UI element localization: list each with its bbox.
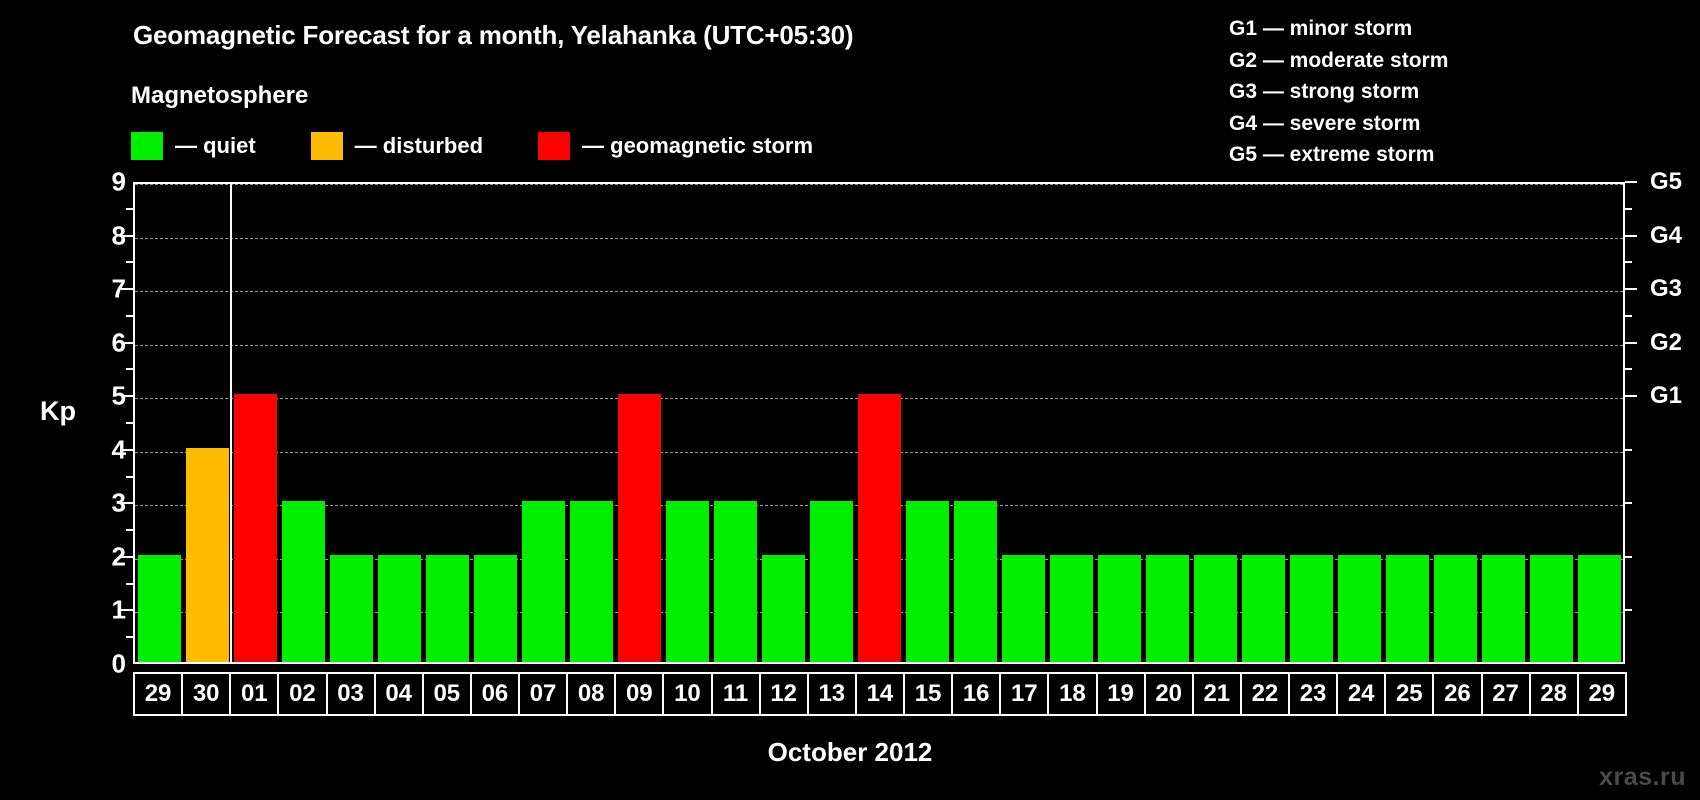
bar-slot[interactable] <box>375 184 423 662</box>
y-tick-mark-minor-5 <box>126 368 133 370</box>
bar-slot[interactable] <box>423 184 471 662</box>
bar-slot[interactable] <box>1335 184 1383 662</box>
y-tick-mark-2 <box>121 556 133 558</box>
bar-slot[interactable] <box>279 184 327 662</box>
bar-slot[interactable] <box>519 184 567 662</box>
day-label-25[interactable]: 25 <box>1384 672 1434 716</box>
g-tick-label-g4: G4 <box>1650 222 1682 250</box>
legend-item-quiet: — quiet <box>131 131 256 161</box>
g-tick-mark-minor-1 <box>1625 609 1632 611</box>
day-label-24[interactable]: 24 <box>1336 672 1386 716</box>
bar-slot[interactable] <box>1431 184 1479 662</box>
day-label-13[interactable]: 13 <box>807 672 857 716</box>
bar-slot[interactable] <box>183 184 231 662</box>
y-tick-mark-3 <box>121 502 133 504</box>
bar-10-kp-3[interactable] <box>666 501 709 662</box>
g-scale-legend: G1 — minor storm G2 — moderate storm G3 … <box>1229 13 1448 171</box>
legend-heading: Magnetosphere <box>131 82 308 110</box>
y-tick-label-9: 9 <box>86 167 126 198</box>
bar-09-kp-5[interactable] <box>618 394 661 662</box>
g-tick-label-g5: G5 <box>1650 168 1682 196</box>
g-legend-line-g1: G1 — minor storm <box>1229 13 1448 45</box>
day-label-22[interactable]: 22 <box>1240 672 1290 716</box>
y-tick-mark-minor-1 <box>126 583 133 585</box>
day-label-29[interactable]: 29 <box>1577 672 1627 716</box>
bar-slot[interactable] <box>1287 184 1335 662</box>
day-label-08[interactable]: 08 <box>566 672 616 716</box>
bar-02-kp-3[interactable] <box>282 501 325 662</box>
bar-20-kp-2[interactable] <box>1146 555 1189 662</box>
y-tick-mark-4 <box>121 449 133 451</box>
bar-06-kp-2[interactable] <box>474 555 517 662</box>
magnetosphere-legend: — quiet — disturbed — geomagnetic storm <box>131 131 813 161</box>
bar-slot[interactable] <box>471 184 519 662</box>
month-divider-line <box>230 184 232 662</box>
bar-slot[interactable] <box>1575 184 1623 662</box>
g-tick-label-g2: G2 <box>1650 329 1682 357</box>
bar-30-kp-4[interactable] <box>186 448 229 662</box>
bar-07-kp-3[interactable] <box>522 501 565 662</box>
y-axis-title: Kp <box>40 396 76 427</box>
day-label-07[interactable]: 07 <box>518 672 568 716</box>
bar-slot[interactable] <box>1191 184 1239 662</box>
bar-15-kp-3[interactable] <box>906 501 949 662</box>
bar-22-kp-2[interactable] <box>1242 555 1285 662</box>
bar-slot[interactable] <box>759 184 807 662</box>
day-label-11[interactable]: 11 <box>711 672 761 716</box>
g-tick-mark-minor-8.5 <box>1625 208 1632 210</box>
plot-area <box>133 182 1625 664</box>
g-tick-mark-minor-4 <box>1625 449 1632 451</box>
legend-item-geomagnetic-storm: — geomagnetic storm <box>538 131 813 161</box>
y-tick-label-2: 2 <box>86 541 126 572</box>
day-label-29[interactable]: 29 <box>133 672 183 716</box>
g-tick-mark-minor-6.5 <box>1625 315 1632 317</box>
day-label-09[interactable]: 09 <box>614 672 664 716</box>
y-tick-mark-minor-7 <box>126 261 133 263</box>
bar-17-kp-2[interactable] <box>1002 555 1045 662</box>
bar-21-kp-2[interactable] <box>1194 555 1237 662</box>
y-tick-label-1: 1 <box>86 595 126 626</box>
bar-slot[interactable] <box>807 184 855 662</box>
bar-12-kp-2[interactable] <box>762 555 805 662</box>
bar-18-kp-2[interactable] <box>1050 555 1093 662</box>
bar-slot[interactable] <box>1479 184 1527 662</box>
bar-slot[interactable] <box>1095 184 1143 662</box>
bar-28-kp-2[interactable] <box>1530 555 1573 662</box>
g-legend-line-g3: G3 — strong storm <box>1229 76 1448 108</box>
bar-23-kp-2[interactable] <box>1290 555 1333 662</box>
day-label-30[interactable]: 30 <box>181 672 231 716</box>
g-tick-mark-g3 <box>1625 288 1637 290</box>
g-tick-mark-g5 <box>1625 181 1637 183</box>
y-tick-mark-5 <box>121 395 133 397</box>
bar-29-kp-2[interactable] <box>138 555 181 662</box>
storm-swatch-icon <box>538 132 570 160</box>
legend-label-quiet: — quiet <box>175 133 256 159</box>
bar-slot[interactable] <box>903 184 951 662</box>
g-tick-label-g1: G1 <box>1650 382 1682 410</box>
bar-slot[interactable] <box>1143 184 1191 662</box>
quiet-swatch-icon <box>131 132 163 160</box>
day-label-10[interactable]: 10 <box>662 672 712 716</box>
disturbed-swatch-icon <box>311 132 343 160</box>
bar-slot[interactable] <box>711 184 759 662</box>
g-tick-mark-g1 <box>1625 395 1637 397</box>
g-legend-line-g4: G4 — severe storm <box>1229 108 1448 140</box>
bar-slot[interactable] <box>1527 184 1575 662</box>
y-tick-mark-7 <box>121 288 133 290</box>
y-tick-mark-minor-4 <box>126 422 133 424</box>
bars-layer <box>135 184 1623 662</box>
day-label-05[interactable]: 05 <box>422 672 472 716</box>
bar-slot[interactable] <box>999 184 1047 662</box>
y-tick-label-4: 4 <box>86 434 126 465</box>
bar-11-kp-3[interactable] <box>714 501 757 662</box>
y-tick-label-0: 0 <box>86 649 126 680</box>
bar-13-kp-3[interactable] <box>810 501 853 662</box>
day-label-28[interactable]: 28 <box>1529 672 1579 716</box>
y-tick-mark-minor-6 <box>126 315 133 317</box>
x-axis-title: October 2012 <box>0 737 1700 768</box>
day-label-23[interactable]: 23 <box>1288 672 1338 716</box>
y-tick-label-5: 5 <box>86 381 126 412</box>
page-title: Geomagnetic Forecast for a month, Yelaha… <box>133 20 853 51</box>
g-legend-line-g5: G5 — extreme storm <box>1229 139 1448 171</box>
bar-slot[interactable] <box>951 184 999 662</box>
day-label-18[interactable]: 18 <box>1047 672 1097 716</box>
bar-05-kp-2[interactable] <box>426 555 469 662</box>
y-tick-label-6: 6 <box>86 327 126 358</box>
bar-slot[interactable] <box>1239 184 1287 662</box>
day-label-03[interactable]: 03 <box>326 672 376 716</box>
g-tick-mark-minor-2 <box>1625 556 1632 558</box>
day-label-27[interactable]: 27 <box>1481 672 1531 716</box>
bar-slot[interactable] <box>135 184 183 662</box>
legend-label-geomagnetic-storm: — geomagnetic storm <box>582 133 813 159</box>
bar-27-kp-2[interactable] <box>1482 555 1525 662</box>
y-tick-mark-minor-2 <box>126 529 133 531</box>
day-label-02[interactable]: 02 <box>277 672 327 716</box>
day-label-06[interactable]: 06 <box>470 672 520 716</box>
legend-item-disturbed: — disturbed <box>311 131 483 161</box>
y-tick-label-3: 3 <box>86 488 126 519</box>
bar-14-kp-5[interactable] <box>858 394 901 662</box>
g-tick-mark-minor-3 <box>1625 502 1632 504</box>
plot-inner <box>135 184 1623 662</box>
day-label-26[interactable]: 26 <box>1432 672 1482 716</box>
day-label-19[interactable]: 19 <box>1096 672 1146 716</box>
bar-slot[interactable] <box>615 184 663 662</box>
g-tick-mark-g4 <box>1625 235 1637 237</box>
day-label-21[interactable]: 21 <box>1192 672 1242 716</box>
y-tick-mark-8 <box>121 235 133 237</box>
bar-16-kp-3[interactable] <box>954 501 997 662</box>
day-label-20[interactable]: 20 <box>1144 672 1194 716</box>
y-tick-mark-minor-3 <box>126 476 133 478</box>
day-label-14[interactable]: 14 <box>855 672 905 716</box>
y-tick-mark-6 <box>121 342 133 344</box>
bar-03-kp-2[interactable] <box>330 555 373 662</box>
g-legend-line-g2: G2 — moderate storm <box>1229 45 1448 77</box>
bar-slot[interactable] <box>1383 184 1431 662</box>
day-label-15[interactable]: 15 <box>903 672 953 716</box>
y-tick-label-7: 7 <box>86 274 126 305</box>
bar-25-kp-2[interactable] <box>1386 555 1429 662</box>
day-label-12[interactable]: 12 <box>759 672 809 716</box>
bar-slot[interactable] <box>855 184 903 662</box>
y-tick-label-8: 8 <box>86 220 126 251</box>
bar-slot[interactable] <box>1047 184 1095 662</box>
watermark: xras.ru <box>1599 763 1686 792</box>
day-label-01[interactable]: 01 <box>229 672 279 716</box>
bar-26-kp-2[interactable] <box>1434 555 1477 662</box>
x-axis-day-boxes: 2930010203040506070809101112131415161718… <box>133 672 1625 716</box>
y-tick-mark-minor-8 <box>126 208 133 210</box>
y-tick-mark-minor-0 <box>126 636 133 638</box>
bar-01-kp-5[interactable] <box>234 394 277 662</box>
bar-slot[interactable] <box>231 184 279 662</box>
bar-slot[interactable] <box>567 184 615 662</box>
day-label-17[interactable]: 17 <box>999 672 1049 716</box>
g-tick-mark-g2 <box>1625 342 1637 344</box>
bar-24-kp-2[interactable] <box>1338 555 1381 662</box>
g-tick-label-g3: G3 <box>1650 275 1682 303</box>
g-tick-mark-minor-5.5 <box>1625 368 1632 370</box>
bar-19-kp-2[interactable] <box>1098 555 1141 662</box>
day-label-04[interactable]: 04 <box>374 672 424 716</box>
bar-slot[interactable] <box>327 184 375 662</box>
y-tick-mark-1 <box>121 609 133 611</box>
g-tick-mark-minor-7.5 <box>1625 261 1632 263</box>
day-label-16[interactable]: 16 <box>951 672 1001 716</box>
bar-08-kp-3[interactable] <box>570 501 613 662</box>
bar-04-kp-2[interactable] <box>378 555 421 662</box>
bar-slot[interactable] <box>663 184 711 662</box>
bar-29-kp-2[interactable] <box>1578 555 1621 662</box>
legend-label-disturbed: — disturbed <box>355 133 483 159</box>
